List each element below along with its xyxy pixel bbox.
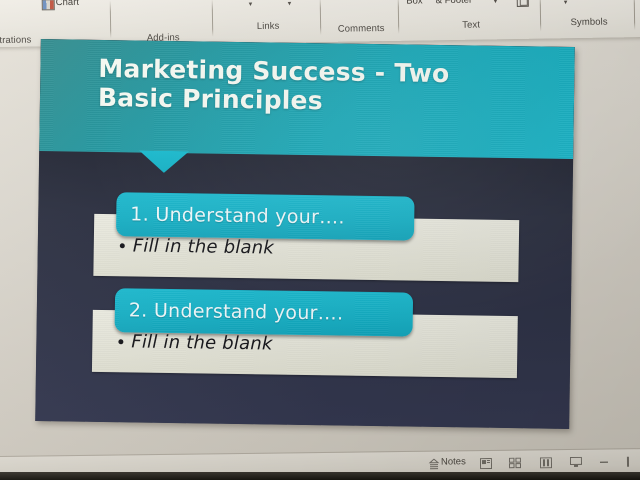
ribbon-group-label-comments: Comments (324, 23, 398, 41)
zoom-out-icon[interactable] (598, 455, 610, 466)
slideshow-icon[interactable] (570, 455, 582, 466)
text-box-command-label[interactable]: Text Box (406, 0, 424, 7)
ribbon-group-links: Link Action ▾ ▾ Links (216, 0, 321, 44)
ribbon-group-label-symbols: Symbols (544, 16, 634, 37)
bullet-text-1[interactable]: Fill in the blank (133, 235, 274, 258)
content-panel-1: Fill in the blank (93, 214, 519, 282)
ribbon-separator (320, 0, 322, 35)
slide-title[interactable]: Marketing Success - Two Basic Principles (98, 54, 529, 118)
chevron-down-icon[interactable]: ▾ (249, 0, 253, 8)
slide-canvas[interactable]: Marketing Success - Two Basic Principles… (35, 39, 575, 429)
slide-block-2: Fill in the blank 2. Understand your…. (36, 287, 571, 381)
ribbon-group-text: Text Box Header & Footer WordArt ▾ Text (402, 0, 541, 41)
slide-block-1: Fill in the blank 1. Understand your…. (37, 191, 572, 285)
normal-view-icon[interactable] (480, 456, 492, 467)
ribbon-group-addins: My Add-ins ▾ Add-ins (114, 0, 213, 45)
slide-number-icon[interactable] (517, 0, 529, 7)
ribbon-separator (634, 0, 636, 30)
text-box-line2: Box (406, 0, 423, 7)
screen-photo: Chart ustrations My Add-ins ▾ Add-ins Li… (0, 0, 640, 480)
content-panel-2: Fill in the blank (92, 310, 518, 378)
ribbon-separator (398, 0, 400, 34)
my-addins-command-label[interactable]: My Add-ins (130, 0, 177, 1)
bullet-row-2[interactable]: Fill in the blank (92, 310, 518, 378)
ribbon-group-symbols: Equation Symbol ▾ Symbols (544, 0, 635, 39)
chart-command-label[interactable]: Chart (56, 0, 79, 8)
header-footer-command-label[interactable]: Header & Footer (436, 0, 473, 6)
bullet-text-2[interactable]: Fill in the blank (131, 331, 272, 354)
notes-icon[interactable] (428, 457, 440, 468)
chart-icon[interactable] (42, 0, 55, 10)
ribbon-group-label-text: Text (402, 19, 540, 40)
slide-sorter-icon[interactable] (509, 456, 521, 467)
slide[interactable]: Marketing Success - Two Basic Principles… (35, 39, 575, 429)
header-footer-line2: & Footer (436, 0, 473, 6)
reading-view-icon[interactable] (540, 455, 552, 466)
bullet-row-1[interactable]: Fill in the blank (93, 214, 519, 282)
chevron-down-icon[interactable]: ▾ (564, 0, 568, 6)
bullet-dot-icon (120, 243, 125, 248)
photo-bottom-edge (0, 472, 640, 480)
zoom-slider-icon[interactable] (622, 454, 634, 465)
ribbon-group-label-links: Links (216, 20, 320, 43)
ribbon-separator (540, 0, 542, 32)
chevron-down-icon[interactable]: ▾ (494, 0, 498, 5)
ribbon-separator (212, 0, 214, 37)
bullet-dot-icon (118, 339, 123, 344)
notes-label[interactable]: Notes (441, 456, 466, 467)
ribbon-group-comments: Comment Comments (324, 0, 399, 42)
chevron-down-icon[interactable]: ▾ (288, 0, 292, 8)
